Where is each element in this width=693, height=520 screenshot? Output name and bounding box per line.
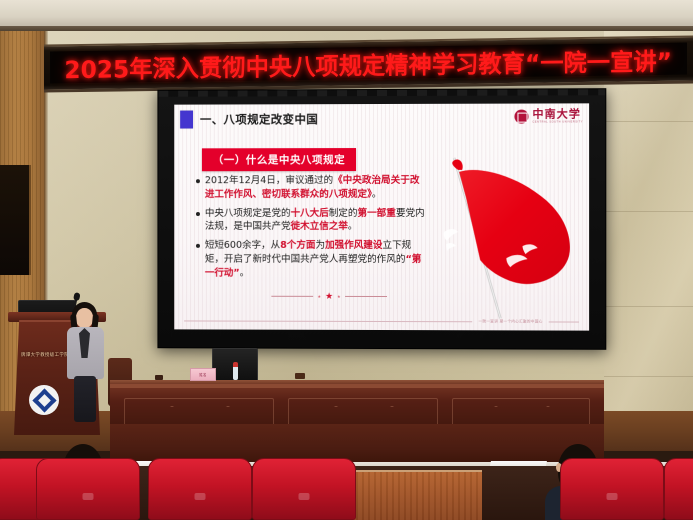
slide-bullet-text: 中央八项规定是党的十八大后制定的第一部重要党内法规，是中国共产党徙木立信之举。: [205, 207, 427, 234]
university-logo: 中南大学 CENTRAL SOUTH UNIVERSITY: [514, 108, 583, 123]
slide-bullet-text: 短短600余字，从8个方面为加强作风建设立下规矩，开启了新时代中国共产党人再塑党…: [205, 239, 427, 280]
slide-bullet: 2012年12月4日，审议通过的《中央政治局关于改进工作作风、密切联系群众的八项…: [196, 174, 427, 201]
title-accent-bar: [180, 111, 193, 129]
slide-footer: 一院一宣讲 凝一个内心汇聚的中国心: [184, 318, 579, 324]
slide-bullet: 中央八项规定是党的十八大后制定的第一部重要党内法规，是中国共产党徙木立信之举。: [196, 207, 427, 234]
auditorium-seat: [560, 458, 664, 520]
water-bottle: [233, 362, 238, 380]
slide-bullet-list: 2012年12月4日，审议通过的《中央政治局关于改进工作作风、密切联系群众的八项…: [196, 174, 427, 286]
presenter: [62, 300, 108, 420]
bullet-dot-icon: [196, 179, 200, 183]
divider-star-small: ★: [337, 294, 341, 299]
desk-item: [155, 375, 163, 380]
presentation-slide: 一、八项规定改变中国 中南大学 CENTRAL SOUTH UNIVERSITY…: [174, 103, 589, 330]
party-flag-graphic: [422, 152, 585, 321]
desk-item: [295, 373, 305, 379]
slide-section-banner: （一）什么是中央八项规定: [202, 148, 356, 171]
led-banner-text: 2025年深入贯彻中央八项规定精神学习教育“一院一宣讲”: [65, 41, 673, 84]
name-card-text: 姓名: [199, 372, 206, 377]
led-banner: 2025年深入贯彻中央八项规定精神学习教育“一院一宣讲”: [44, 35, 693, 92]
name-card: 姓名: [190, 368, 216, 381]
divider-star-small: ★: [317, 294, 321, 299]
lecture-hall-scene: 2025年深入贯彻中央八项规定精神学习教育“一院一宣讲” 一、八项规定改变中国 …: [0, 0, 693, 520]
slide-bullet: 短短600余字，从8个方面为加强作风建设立下规矩，开启了新时代中国共产党人再塑党…: [196, 239, 427, 280]
slide-title: 一、八项规定改变中国: [200, 111, 318, 127]
presenter-legs: [74, 376, 96, 422]
auditorium-seat: [148, 458, 252, 520]
projection-screen: 一、八项规定改变中国 中南大学 CENTRAL SOUTH UNIVERSITY…: [157, 88, 606, 350]
bullet-dot-icon: [196, 212, 200, 216]
auditorium-seat: [664, 458, 693, 520]
divider-star-large: ★: [325, 291, 333, 302]
presenter-head: [76, 308, 93, 328]
flag-svg: [422, 152, 585, 321]
university-name-en: CENTRAL SOUTH UNIVERSITY: [532, 121, 583, 124]
university-name-cn: 中南大学: [532, 108, 583, 119]
auditorium-seat: [252, 458, 356, 520]
podium-emblem-icon: [29, 385, 59, 415]
right-marble-wall: [604, 31, 693, 431]
bullet-dot-icon: [196, 244, 200, 248]
auditorium-seat: [36, 458, 140, 520]
slide-bullet-text: 2012年12月4日，审议通过的《中央政治局关于改进工作作风、密切联系群众的八项…: [205, 174, 427, 201]
university-emblem-icon: [514, 109, 528, 123]
slide-title-row: 一、八项规定改变中国: [180, 110, 318, 128]
star-divider: ★ ★ ★: [259, 291, 399, 302]
left-wall-recess: [0, 165, 31, 275]
slide-footer-text: 一院一宣讲 凝一个内心汇聚的中国心: [478, 319, 542, 324]
